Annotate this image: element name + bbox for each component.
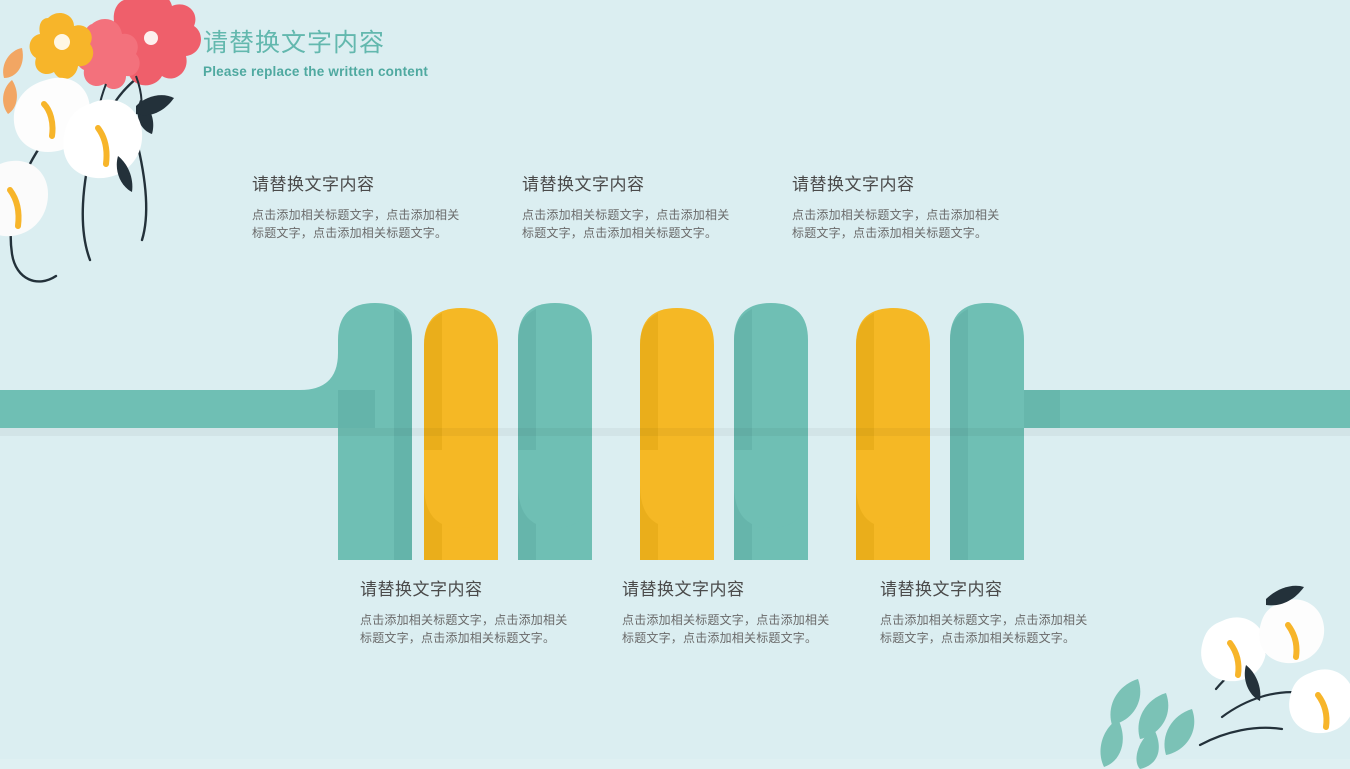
content-heading: 请替换文字内容 <box>622 578 837 602</box>
content-body: 点击添加相关标题文字，点击添加相关标题文字，点击添加相关标题文字。 <box>622 611 837 647</box>
calla-lily-blooms <box>0 78 174 236</box>
content-heading: 请替换文字内容 <box>880 578 1095 602</box>
page-title-en: Please replace the written content <box>203 63 428 81</box>
content-heading: 请替换文字内容 <box>252 173 467 197</box>
content-block-bottom-3: 请替换文字内容 点击添加相关标题文字，点击添加相关标题文字，点击添加相关标题文字… <box>880 578 1095 647</box>
content-body: 点击添加相关标题文字，点击添加相关标题文字，点击添加相关标题文字。 <box>360 611 575 647</box>
flower-bottom-right-icon <box>1096 569 1350 769</box>
content-block-top-1: 请替换文字内容 点击添加相关标题文字，点击添加相关标题文字，点击添加相关标题文字… <box>252 173 467 242</box>
zigzag-ribbon-graphic <box>0 270 1350 560</box>
content-body: 点击添加相关标题文字，点击添加相关标题文字，点击添加相关标题文字。 <box>880 611 1095 647</box>
content-block-top-3: 请替换文字内容 点击添加相关标题文字，点击添加相关标题文字，点击添加相关标题文字… <box>792 173 1007 242</box>
content-block-bottom-1: 请替换文字内容 点击添加相关标题文字，点击添加相关标题文字，点击添加相关标题文字… <box>360 578 575 647</box>
br-leaves <box>1100 679 1194 769</box>
flower-top-left-icon <box>0 0 216 308</box>
br-calla-lilies <box>1201 586 1350 733</box>
content-body: 点击添加相关标题文字，点击添加相关标题文字，点击添加相关标题文字。 <box>792 206 1007 242</box>
page-title-cn: 请替换文字内容 <box>203 26 428 60</box>
content-body: 点击添加相关标题文字，点击添加相关标题文字，点击添加相关标题文字。 <box>252 206 467 242</box>
content-heading: 请替换文字内容 <box>360 578 575 602</box>
ribbon-band-caps <box>338 450 1024 528</box>
content-block-top-2: 请替换文字内容 点击添加相关标题文字，点击添加相关标题文字，点击添加相关标题文字… <box>522 173 737 242</box>
content-block-bottom-2: 请替换文字内容 点击添加相关标题文字，点击添加相关标题文字，点击添加相关标题文字… <box>622 578 837 647</box>
page-title: 请替换文字内容 Please replace the written conte… <box>203 26 428 81</box>
content-heading: 请替换文字内容 <box>522 173 737 197</box>
content-body: 点击添加相关标题文字，点击添加相关标题文字，点击添加相关标题文字。 <box>522 206 737 242</box>
content-heading: 请替换文字内容 <box>792 173 1007 197</box>
slide-canvas: 请替换文字内容 Please replace the written conte… <box>0 0 1350 759</box>
